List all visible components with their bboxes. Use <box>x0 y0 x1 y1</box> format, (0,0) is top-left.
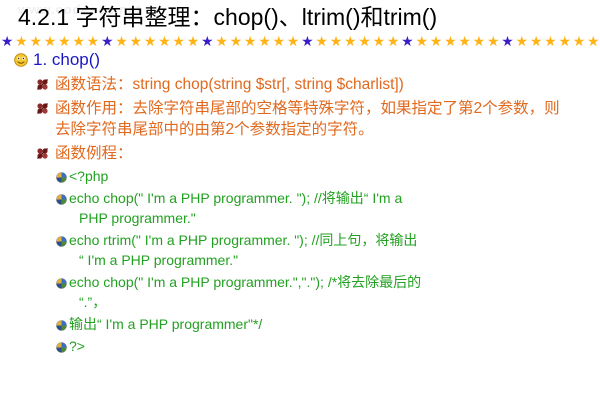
star-icon: ★ <box>143 33 157 49</box>
star-icon: ★ <box>443 33 457 49</box>
star-icon: ★ <box>14 33 28 49</box>
code-line: 输出“ I'm a PHP programmer"*/ <box>56 314 600 334</box>
slide-body: 1. chop() 函数语法：string chop(string $str[,… <box>0 48 600 356</box>
star-icon: ★ <box>43 33 57 49</box>
pie-icon <box>56 170 67 181</box>
pie-icon <box>56 276 67 287</box>
star-icon: ★ <box>329 33 343 49</box>
star-icon: ★ <box>129 33 143 49</box>
code-line-text: echo chop(" I'm a PHP programmer.",".");… <box>69 274 421 290</box>
star-icon: ★ <box>429 33 443 49</box>
code-line: echo rtrim(" I'm a PHP programmer. "); /… <box>56 230 600 270</box>
star-icon: ★ <box>272 33 286 49</box>
page-title: 4.2.1 字符串整理：chop()、ltrim()和trim() <box>18 2 437 32</box>
code-line-label: echo chop(" I'm a PHP programmer. "); //… <box>69 188 559 228</box>
code-line-label: 输出“ I'm a PHP programmer"*/ <box>69 314 559 334</box>
star-icon: ★ <box>315 33 329 49</box>
list-item-purpose: 函数作用：去除字符串尾部的空格等特殊字符，如果指定了第2个参数，则去除字符串尾部… <box>36 98 600 140</box>
star-icon: ★ <box>558 33 572 49</box>
star-icon: ★ <box>486 33 500 49</box>
code-line-text: <?php <box>69 168 108 184</box>
pie-icon <box>56 340 67 351</box>
code-line-text: ?> <box>69 338 85 354</box>
code-line-continuation: PHP programmer." <box>69 208 559 228</box>
star-icon: ★ <box>29 33 43 49</box>
code-line-label: ?> <box>69 336 559 356</box>
star-icon: ★ <box>300 33 314 49</box>
star-icon: ★ <box>458 33 472 49</box>
star-icon: ★ <box>0 33 14 49</box>
code-line: echo chop(" I'm a PHP programmer. "); //… <box>56 188 600 228</box>
star-icon: ★ <box>71 33 85 49</box>
star-icon: ★ <box>57 33 71 49</box>
star-icon: ★ <box>357 33 371 49</box>
star-icon: ★ <box>172 33 186 49</box>
star-icon: ★ <box>157 33 171 49</box>
star-icon: ★ <box>415 33 429 49</box>
star-icon: ★ <box>529 33 543 49</box>
list-item-syntax: 函数语法：string chop(string $str[, string $c… <box>36 74 600 95</box>
code-line-label: echo chop(" I'm a PHP programmer.",".");… <box>69 272 559 312</box>
star-divider: ★★★★★★★★★★★★★★★★★★★★★★★★★★★★★★★★★★★★★★★★… <box>0 33 600 49</box>
star-icon: ★ <box>200 33 214 49</box>
code-line: <?php <box>56 166 600 186</box>
star-icon: ★ <box>386 33 400 49</box>
code-line-text: echo chop(" I'm a PHP programmer. "); //… <box>69 190 402 206</box>
flower-icon <box>36 147 49 160</box>
pie-icon <box>56 318 67 329</box>
purpose-label: 函数作用：去除字符串尾部的空格等特殊字符，如果指定了第2个参数，则去除字符串尾部… <box>55 98 560 140</box>
list-item-example-title: 函数例程： <box>36 143 600 164</box>
pie-icon <box>56 234 67 245</box>
star-icon: ★ <box>186 33 200 49</box>
code-line-continuation: “.”， <box>69 292 559 312</box>
star-icon: ★ <box>343 33 357 49</box>
list-item-heading: 1. chop() <box>14 48 600 71</box>
flower-icon <box>36 102 49 115</box>
heading-label: 1. chop() <box>33 48 100 71</box>
code-line-label: <?php <box>69 166 559 186</box>
code-line-continuation: “ I'm a PHP programmer." <box>69 250 559 270</box>
star-icon: ★ <box>372 33 386 49</box>
star-icon: ★ <box>114 33 128 49</box>
code-line-text: 输出“ I'm a PHP programmer"*/ <box>69 316 262 332</box>
star-icon: ★ <box>472 33 486 49</box>
star-icon: ★ <box>257 33 271 49</box>
code-line-text: echo rtrim(" I'm a PHP programmer. "); /… <box>69 232 417 248</box>
code-line-label: echo rtrim(" I'm a PHP programmer. "); /… <box>69 230 559 270</box>
star-icon: ★ <box>500 33 514 49</box>
star-icon: ★ <box>586 33 600 49</box>
pie-icon <box>56 192 67 203</box>
star-icon: ★ <box>543 33 557 49</box>
star-icon: ★ <box>229 33 243 49</box>
slide-canvas: www.codesec.net 4.2.1 字符串整理：chop()、ltrim… <box>0 0 600 400</box>
star-icon: ★ <box>243 33 257 49</box>
star-icon: ★ <box>214 33 228 49</box>
flower-icon <box>36 78 49 91</box>
code-line: ?> <box>56 336 600 356</box>
code-line: echo chop(" I'm a PHP programmer.",".");… <box>56 272 600 312</box>
star-icon: ★ <box>400 33 414 49</box>
example-title-label: 函数例程： <box>55 143 560 164</box>
star-icon: ★ <box>286 33 300 49</box>
star-icon: ★ <box>572 33 586 49</box>
star-icon: ★ <box>100 33 114 49</box>
syntax-label: 函数语法：string chop(string $str[, string $c… <box>55 74 560 95</box>
star-icon: ★ <box>515 33 529 49</box>
star-icon: ★ <box>86 33 100 49</box>
smiley-icon <box>14 53 28 67</box>
